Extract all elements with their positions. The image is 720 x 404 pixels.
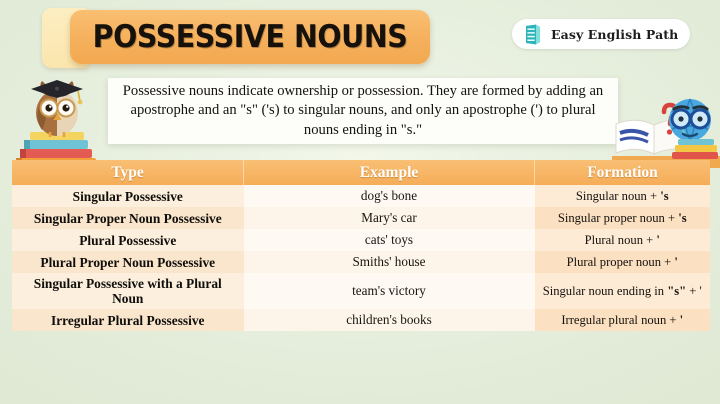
table-row: Singular Proper Noun Possessive Mary's c…: [12, 207, 710, 229]
cell-formation: Irregular plural noun + ': [535, 309, 711, 331]
formation-suffix: 's: [678, 211, 686, 225]
cell-example: Mary's car: [244, 207, 535, 229]
brand-name: Easy English Path: [551, 27, 678, 42]
cell-formation: Singular proper noun + 's: [535, 207, 711, 229]
table-body: Singular Possessive dog's bone Singular …: [12, 185, 710, 331]
cell-example: team's victory: [244, 273, 535, 309]
cell-formation: Plural noun + ': [535, 229, 711, 251]
table-row: Singular Possessive with a Plural Noun t…: [12, 273, 710, 309]
table-row: Plural Possessive cats' toys Plural noun…: [12, 229, 710, 251]
book-icon: [523, 24, 543, 45]
cell-type: Singular Possessive with a Plural Noun: [12, 273, 244, 309]
formation-prefix: Singular noun ending in: [543, 284, 668, 298]
cell-example: children's books: [244, 309, 535, 331]
formation-prefix: Singular noun +: [576, 189, 660, 203]
page-title: POSSESSIVE NOUNS: [93, 19, 408, 55]
formation-suffix: ': [674, 255, 678, 269]
table-row: Singular Possessive dog's bone Singular …: [12, 185, 710, 207]
cell-type: Plural Proper Noun Possessive: [12, 251, 244, 273]
table-head: Type Example Formation: [12, 160, 710, 185]
cell-example: cats' toys: [244, 229, 535, 251]
possessive-nouns-table: Type Example Formation Singular Possessi…: [12, 160, 710, 331]
infographic-page: POSSESSIVE NOUNS Easy English Path Posse…: [0, 0, 720, 404]
formation-prefix: Plural noun +: [585, 233, 657, 247]
cell-example: dog's bone: [244, 185, 535, 207]
table-row: Irregular Plural Possessive children's b…: [12, 309, 710, 331]
owl-graduate-illustration: [4, 70, 110, 170]
column-header-type: Type: [12, 160, 244, 185]
column-header-formation: Formation: [535, 160, 711, 185]
title-banner: POSSESSIVE NOUNS: [70, 10, 430, 64]
formation-suffix: ': [680, 313, 684, 327]
formation-suffix: 's: [660, 189, 668, 203]
cell-type: Irregular Plural Possessive: [12, 309, 244, 331]
formation-tail: + ': [686, 284, 702, 298]
formation-suffix: ': [656, 233, 660, 247]
cell-example: Smiths' house: [244, 251, 535, 273]
globe-character-illustration: [612, 76, 720, 168]
column-header-example: Example: [244, 160, 535, 185]
formation-suffix: "s": [667, 284, 686, 298]
cell-formation: Singular noun + 's: [535, 185, 711, 207]
formation-prefix: Plural proper noun +: [567, 255, 675, 269]
brand-logo: Easy English Path: [512, 19, 690, 49]
table-header-row: Type Example Formation: [12, 160, 710, 185]
cell-formation: Singular noun ending in "s" + ': [535, 273, 711, 309]
cell-type: Singular Proper Noun Possessive: [12, 207, 244, 229]
description-text: Possessive nouns indicate ownership or p…: [116, 82, 610, 140]
cell-type: Singular Possessive: [12, 185, 244, 207]
table-row: Plural Proper Noun Possessive Smiths' ho…: [12, 251, 710, 273]
description-box: Possessive nouns indicate ownership or p…: [108, 78, 618, 144]
cell-type: Plural Possessive: [12, 229, 244, 251]
formation-prefix: Singular proper noun +: [558, 211, 678, 225]
cell-formation: Plural proper noun + ': [535, 251, 711, 273]
formation-prefix: Irregular plural noun +: [561, 313, 679, 327]
